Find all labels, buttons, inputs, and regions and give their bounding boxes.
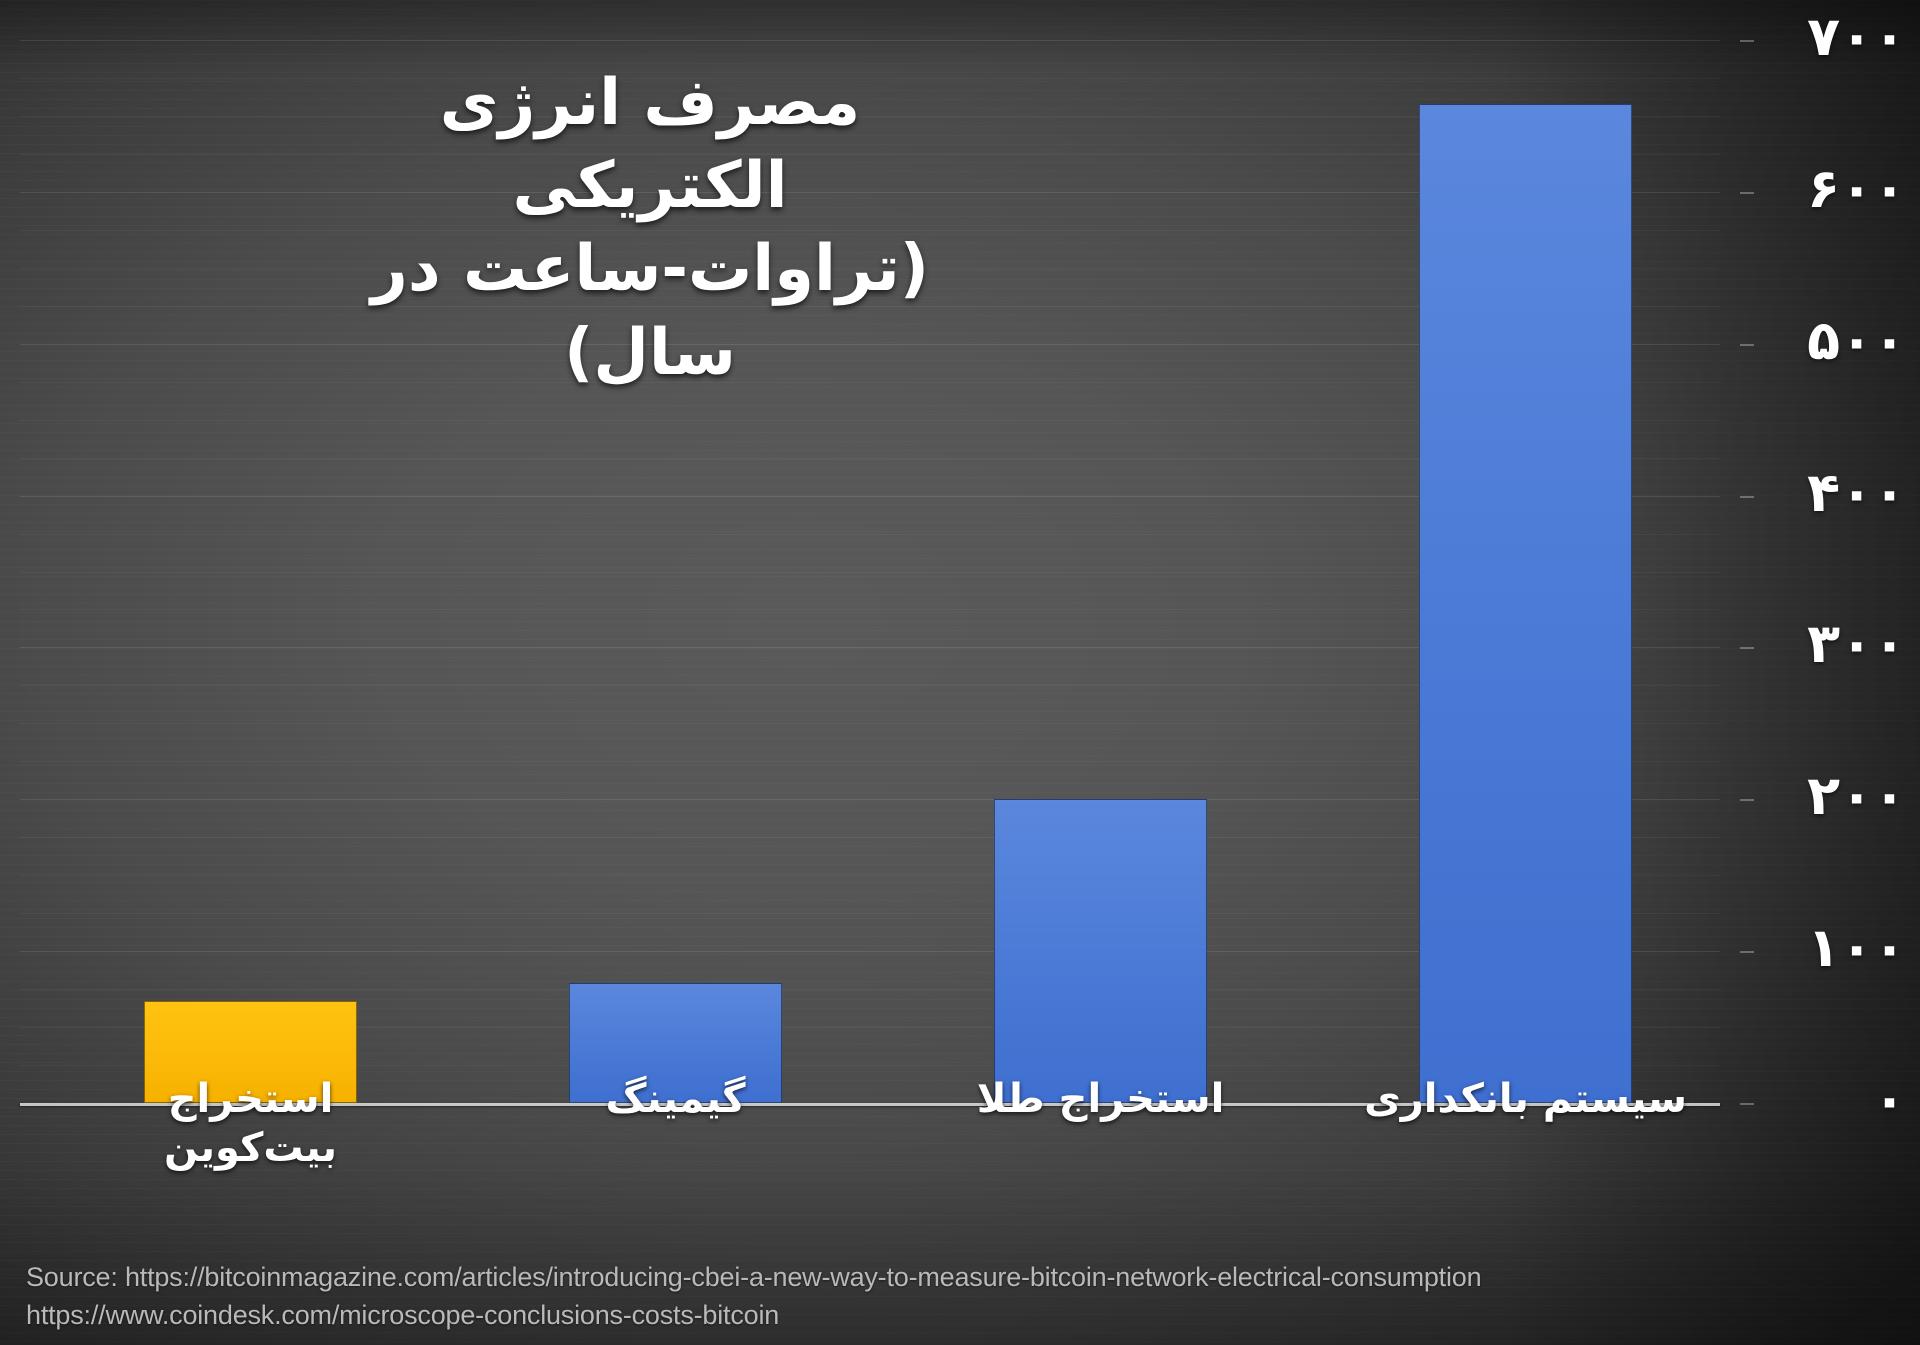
y-tick-mark-600: [1740, 192, 1754, 194]
y-tick-mark-0: [1740, 1103, 1754, 1105]
y-tick-mark-100: [1740, 951, 1754, 953]
y-tick-mark-400: [1740, 496, 1754, 498]
y-tick-label-400: ۴۰۰: [1807, 466, 1906, 520]
bar-4[interactable]: [1419, 104, 1632, 1103]
source-line-1: Source: https://bitcoinmagazine.com/arti…: [26, 1258, 1481, 1296]
y-tick-mark-200: [1740, 799, 1754, 801]
y-tick-label-700: ۷۰۰: [1807, 10, 1906, 64]
y-tick-label-500: ۵۰۰: [1807, 314, 1906, 368]
category-label-3: استخراج طلا: [934, 1075, 1267, 1124]
y-tick-mark-300: [1740, 647, 1754, 649]
chart-title: مصرف انرژی الکتریکی (تراوات-ساعت در سال): [330, 62, 970, 395]
category-label-1: استخراج بیت‌کوین: [84, 1075, 417, 1173]
y-tick-mark-500: [1740, 344, 1754, 346]
chart-figure: ۰۱۰۰۲۰۰۳۰۰۴۰۰۵۰۰۶۰۰۷۰۰ مصرف انرژی الکتری…: [0, 0, 1920, 1345]
category-label-2: گیمینگ: [509, 1075, 842, 1124]
bar-3[interactable]: [994, 799, 1207, 1103]
gridline-major: [20, 40, 1720, 41]
y-tick-mark-700: [1740, 40, 1754, 42]
y-tick-label-100: ۱۰۰: [1807, 921, 1906, 975]
y-tick-label-600: ۶۰۰: [1807, 162, 1906, 216]
category-label-4: سیستم بانکداری: [1359, 1075, 1692, 1124]
y-tick-label-300: ۳۰۰: [1807, 617, 1906, 671]
source-note: Source: https://bitcoinmagazine.com/arti…: [26, 1258, 1481, 1335]
y-tick-label-200: ۲۰۰: [1807, 769, 1906, 823]
source-line-2: https://www.coindesk.com/microscope-conc…: [26, 1296, 1481, 1334]
y-tick-label-0: ۰: [1873, 1073, 1906, 1127]
